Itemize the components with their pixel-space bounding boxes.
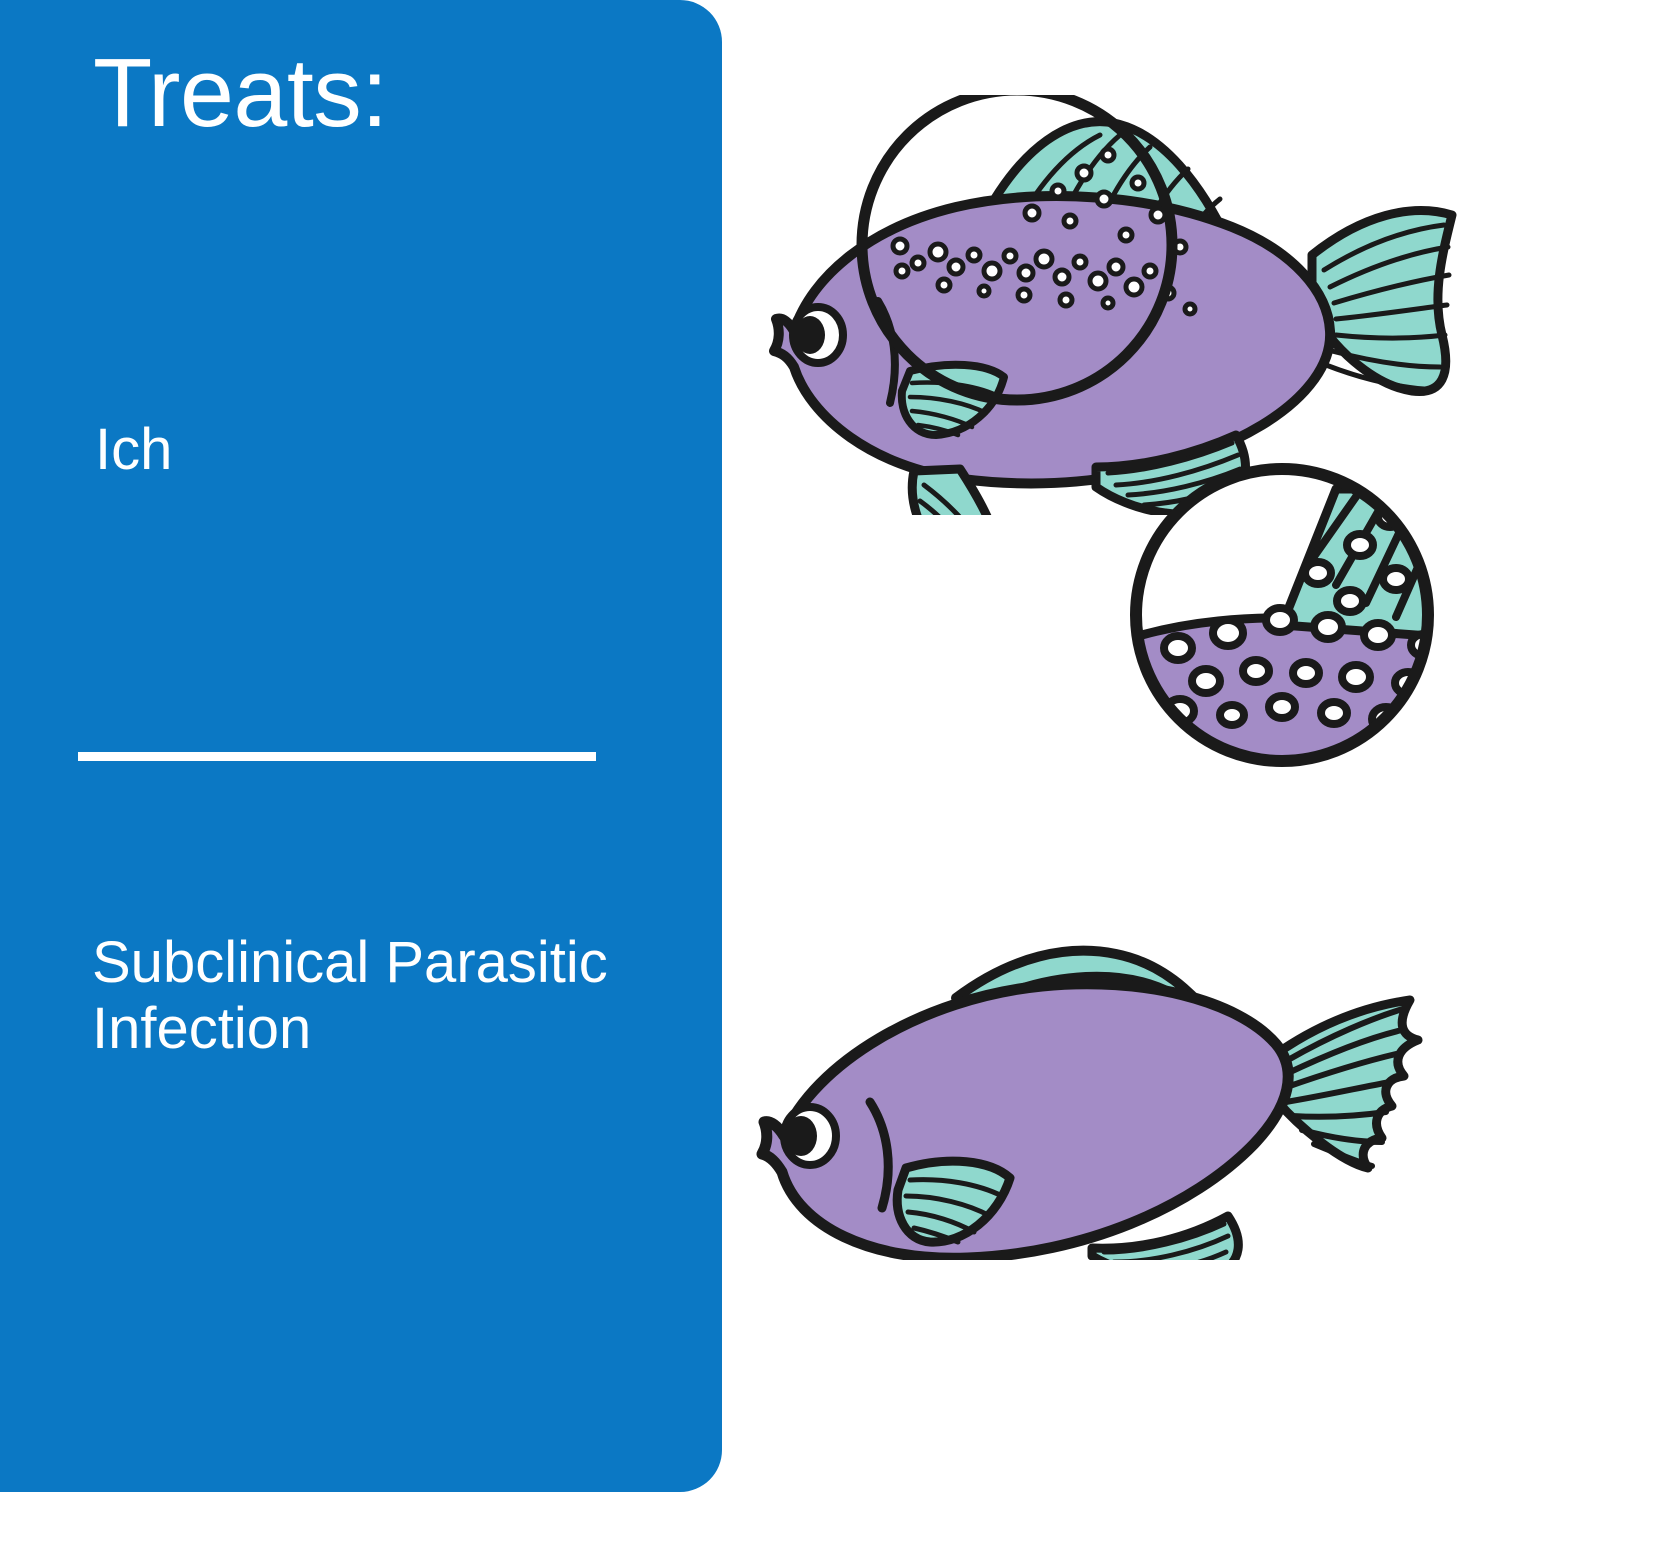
tail-fin-icon bbox=[1276, 1000, 1418, 1168]
treats-item-ich: Ich bbox=[95, 418, 172, 482]
infected-fish-illustration bbox=[752, 95, 1492, 515]
panel-divider bbox=[78, 752, 596, 761]
fish-body bbox=[762, 984, 1288, 1259]
magnified-detail-illustration bbox=[1122, 455, 1442, 775]
infected-fish-group bbox=[774, 95, 1452, 515]
illustration-area bbox=[722, 0, 1678, 1545]
page-title: Treats: bbox=[93, 42, 388, 144]
magnified-content bbox=[1122, 455, 1442, 775]
treats-item-subclinical-parasitic-infection: Subclinical Parasitic Infection bbox=[92, 930, 612, 1061]
healthy-fish-group bbox=[762, 951, 1418, 1260]
treats-panel: Treats: Ich Subclinical Parasitic Infect… bbox=[0, 0, 722, 1492]
eye-icon bbox=[793, 307, 843, 363]
tail-fin-icon bbox=[1312, 211, 1452, 392]
eye-icon bbox=[784, 1107, 836, 1165]
healthy-fish-illustration bbox=[742, 940, 1482, 1260]
